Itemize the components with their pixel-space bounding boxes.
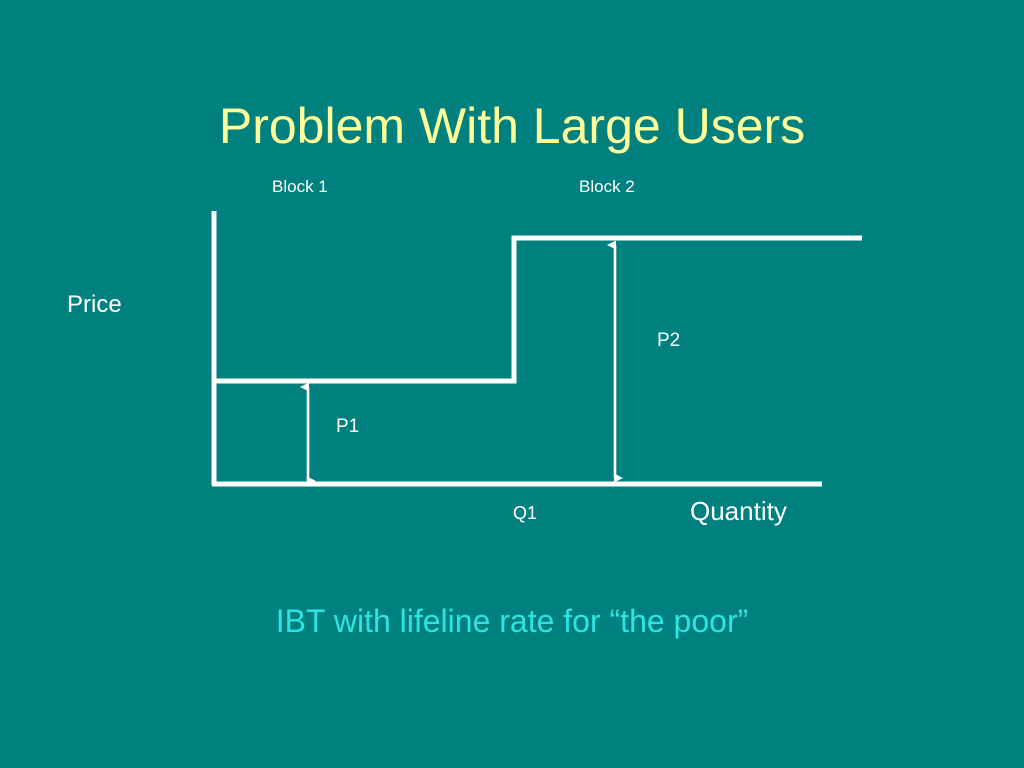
tariff-step-line xyxy=(214,238,862,381)
price-label-p1: P1 xyxy=(336,415,359,438)
x-axis-tick-label-q1: Q1 xyxy=(513,502,537,524)
slide-canvas: Problem With Large Users Block 1 Block 2… xyxy=(0,0,1024,768)
y-axis-title: Price xyxy=(67,291,122,319)
slide-caption: IBT with lifeline rate for “the poor” xyxy=(0,600,1024,642)
block-1-header: Block 1 xyxy=(272,177,328,197)
price-label-p2: P2 xyxy=(657,329,680,352)
block-2-header: Block 2 xyxy=(579,177,635,197)
tariff-step-chart xyxy=(0,0,1024,768)
x-axis-title: Quantity xyxy=(690,496,787,526)
